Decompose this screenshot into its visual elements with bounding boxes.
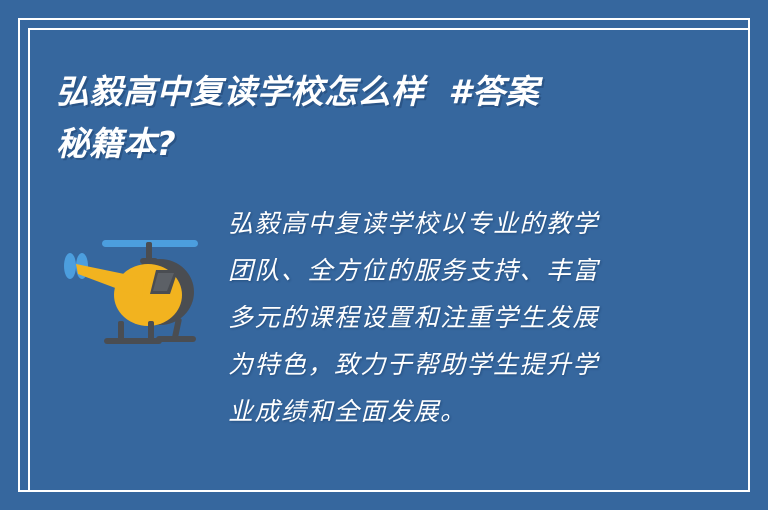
- body-line-3: 多元的课程设置和注重学生发展: [228, 294, 658, 341]
- body-line-1: 弘毅高中复读学校以专业的教学: [228, 200, 658, 247]
- body-paragraph: 弘毅高中复读学校以专业的教学 团队、全方位的服务支持、丰富 多元的课程设置和注重…: [228, 200, 658, 435]
- poster-canvas: 弘毅高中复读学校怎么样 #答案 秘籍本?: [0, 0, 768, 510]
- content-row: 弘毅高中复读学校以专业的教学 团队、全方位的服务支持、丰富 多元的课程设置和注重…: [56, 200, 696, 460]
- body-line-5: 业成绩和全面发展。: [228, 388, 658, 435]
- page-title: 弘毅高中复读学校怎么样 #答案 秘籍本?: [56, 66, 676, 170]
- title-line-2: 秘籍本?: [56, 118, 676, 170]
- title-line-1: 弘毅高中复读学校怎么样 #答案: [56, 66, 676, 118]
- body-line-4: 为特色，致力于帮助学生提升学: [228, 341, 658, 388]
- helicopter-illustration: [56, 218, 216, 348]
- helicopter-icon: [56, 218, 216, 348]
- body-line-2: 团队、全方位的服务支持、丰富: [228, 247, 658, 294]
